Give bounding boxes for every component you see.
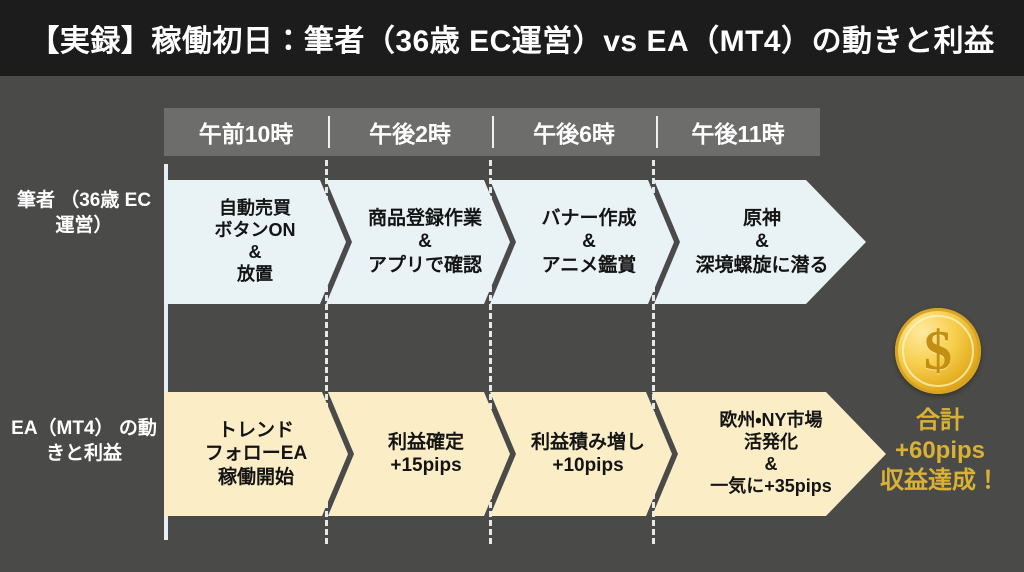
author-step-4-text: 原神 & 深境螺旋に潜る (695, 207, 828, 277)
author-step-3-text: バナー作成 & アニメ鑑賞 (541, 207, 636, 277)
ea-step-3: 利益積み増し +10pips (490, 392, 672, 516)
author-arrow-row: 自動売買 ボタンON & 放置 商品登録作業 & アプリで確認 バナー作成 & … (164, 180, 866, 304)
author-step-4: 原神 & 深境螺旋に潜る (654, 180, 866, 304)
author-step-1-text: 自動売買 ボタンON & 放置 (215, 198, 296, 286)
time-header-bar: 午前10時 午後2時 午後6時 午後11時 (164, 108, 820, 156)
ea-step-1-text: トレンド フォローEA 稼働開始 (205, 419, 307, 489)
row-label-author: 筆者 （36歳 EC運営） (8, 188, 160, 238)
time-label: 午後2時 (369, 115, 451, 149)
time-header-cell-3: 午後6時 (492, 108, 656, 156)
gold-coin-icon: $ (895, 308, 981, 394)
ea-step-4-text: 欧州・NY市場 活発化 & 一気に+35pips (710, 410, 832, 498)
time-header-cell-4: 午後11時 (656, 108, 820, 156)
author-step-3: バナー作成 & アニメ鑑賞 (490, 180, 674, 304)
ea-step-3-text: 利益積み増し +10pips (531, 431, 645, 477)
total-result-text: 合計 +60pips 収益達成！ (876, 406, 1004, 497)
time-label: 午後6時 (533, 115, 615, 149)
ea-arrow-row: トレンド フォローEA 稼働開始 利益確定 +15pips 利益積み増し +10… (164, 392, 886, 516)
time-label: 午前10時 (199, 115, 294, 149)
ea-step-2-text: 利益確定 +15pips (388, 431, 464, 477)
ea-step-4: 欧州・NY市場 活発化 & 一気に+35pips (652, 392, 886, 516)
title-bar: 【実録】稼働初日：筆者（36歳 EC運営）vs EA（MT4）の動きと利益 (0, 0, 1024, 76)
time-header-cell-1: 午前10時 (164, 108, 328, 156)
author-step-2-text: 商品登録作業 & アプリで確認 (368, 207, 482, 277)
time-label: 午後11時 (691, 115, 784, 149)
author-step-1: 自動売買 ボタンON & 放置 (164, 180, 346, 304)
ea-step-1: トレンド フォローEA 稼働開始 (164, 392, 348, 516)
row-label-ea: EA（MT4） の動きと利益 (8, 416, 160, 466)
time-header-cell-2: 午後2時 (328, 108, 492, 156)
dollar-sign-icon: $ (924, 323, 952, 379)
timeline-diagram: 午前10時 午後2時 午後6時 午後11時 筆者 （36歳 EC運営） EA（M… (0, 76, 1024, 572)
ea-step-2: 利益確定 +15pips (328, 392, 510, 516)
author-step-2: 商品登録作業 & アプリで確認 (326, 180, 510, 304)
page-title: 【実録】稼働初日：筆者（36歳 EC運営）vs EA（MT4）の動きと利益 (29, 16, 994, 60)
